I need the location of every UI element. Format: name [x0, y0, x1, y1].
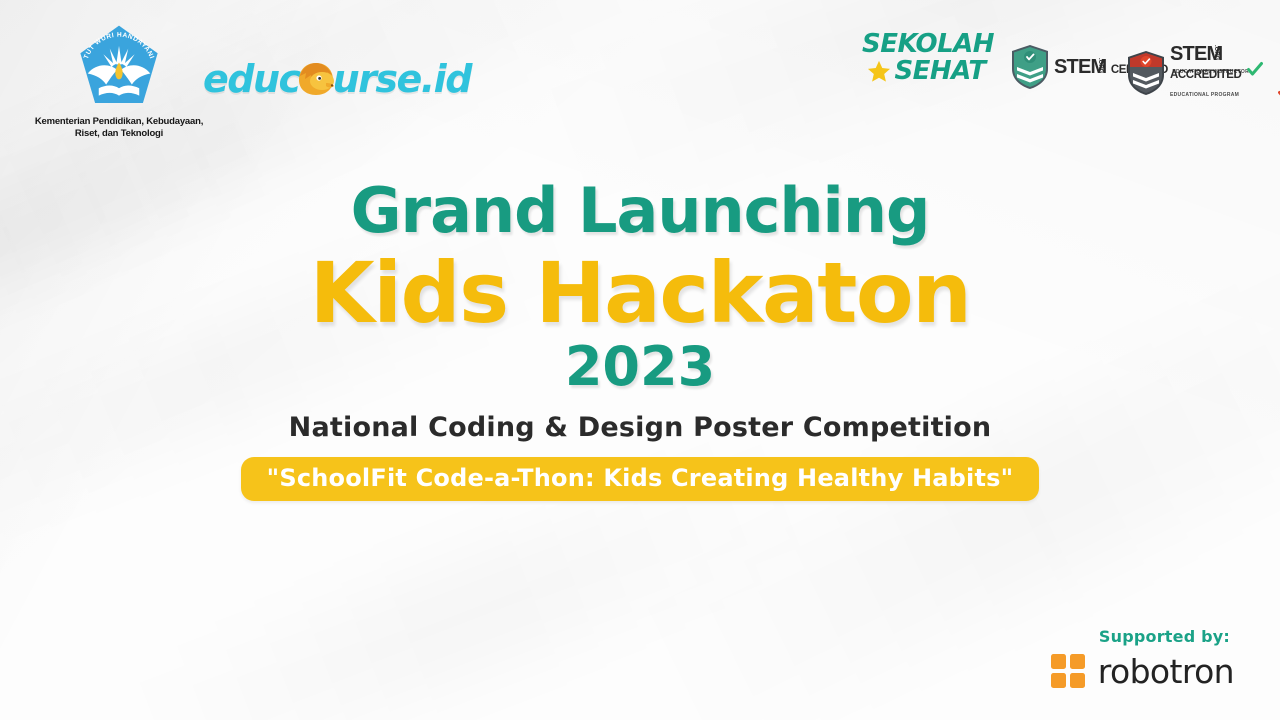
- sekolah-sehat-line2: SEHAT: [894, 59, 985, 83]
- title-grand-launching: Grand Launching: [0, 178, 1280, 243]
- grid-square: [1070, 673, 1085, 688]
- tut-wuri-handayani-svg: TUT WURI HANDAYANI: [73, 22, 165, 114]
- four-square-grid-icon: [1051, 654, 1085, 688]
- stem-accredited-org-suffix: .ORG: [1213, 45, 1219, 60]
- sponsor-logo-robotron[interactable]: robotron: [1051, 654, 1234, 688]
- grid-square: [1051, 654, 1066, 669]
- stem-accredited-badge: STEM .ORG ACCREDITED EDUCATIONAL PROGRAM: [1126, 44, 1280, 101]
- stem-accredited-subtitle: EDUCATIONAL PROGRAM: [1170, 92, 1239, 98]
- sponsor-name: robotron: [1098, 655, 1234, 688]
- sekolah-sehat-logo: SEKOLAH SEHAT: [862, 32, 990, 84]
- stem-certified-shield-icon: [1010, 44, 1050, 90]
- sekolah-sehat-line1: SEKOLAH: [862, 32, 990, 56]
- educourse-name-part2: urse.id: [333, 57, 471, 101]
- event-subtitle: National Coding & Design Poster Competit…: [0, 413, 1280, 443]
- ministry-logo-block: TUT WURI HANDAYANI Kementerian Pendidika…: [30, 22, 208, 140]
- ministry-caption-line2: Riset, dan Teknologi: [30, 128, 208, 140]
- stem-certified-org-suffix: .ORG: [1097, 58, 1103, 73]
- poster-canvas: TUT WURI HANDAYANI Kementerian Pendidika…: [0, 0, 1280, 720]
- grid-square: [1051, 673, 1066, 688]
- title-event-name: Kids Hackaton: [0, 249, 1280, 337]
- supported-by-block: Supported by: robotron: [1051, 627, 1234, 688]
- grid-square: [1070, 654, 1085, 669]
- stem-accredited-status: ACCREDITED: [1170, 69, 1241, 81]
- stem-accredited-word: STEM .ORG: [1170, 44, 1222, 64]
- supported-by-label: Supported by:: [1051, 627, 1234, 646]
- star-icon: [866, 58, 892, 84]
- stem-accredited-shield-icon: [1126, 50, 1166, 96]
- educourse-logo[interactable]: educ urse.id: [203, 56, 471, 102]
- tut-wuri-handayani-logo: TUT WURI HANDAYANI: [73, 22, 165, 114]
- sekolah-sehat-line2-row: SEHAT: [862, 58, 990, 84]
- porcupine-mascot-icon: [296, 59, 336, 99]
- stem-certified-word: STEM .ORG: [1054, 57, 1106, 77]
- event-theme-banner: "SchoolFit Code-a-Thon: Kids Creating He…: [241, 457, 1040, 501]
- theme-banner-wrapper: "SchoolFit Code-a-Thon: Kids Creating He…: [0, 457, 1280, 501]
- header-logo-bar: TUT WURI HANDAYANI Kementerian Pendidika…: [0, 0, 1280, 150]
- ministry-caption-line1: Kementerian Pendidikan, Kebudayaan,: [30, 116, 208, 128]
- main-title-block: Grand Launching Kids Hackaton 2023 Natio…: [0, 178, 1280, 501]
- title-year: 2023: [0, 339, 1280, 396]
- ministry-caption: Kementerian Pendidikan, Kebudayaan, Rise…: [30, 116, 208, 140]
- educourse-name-part1: educ: [203, 57, 300, 101]
- stem-accredited-text: STEM .ORG ACCREDITED EDUCATIONAL PROGRAM: [1170, 44, 1280, 101]
